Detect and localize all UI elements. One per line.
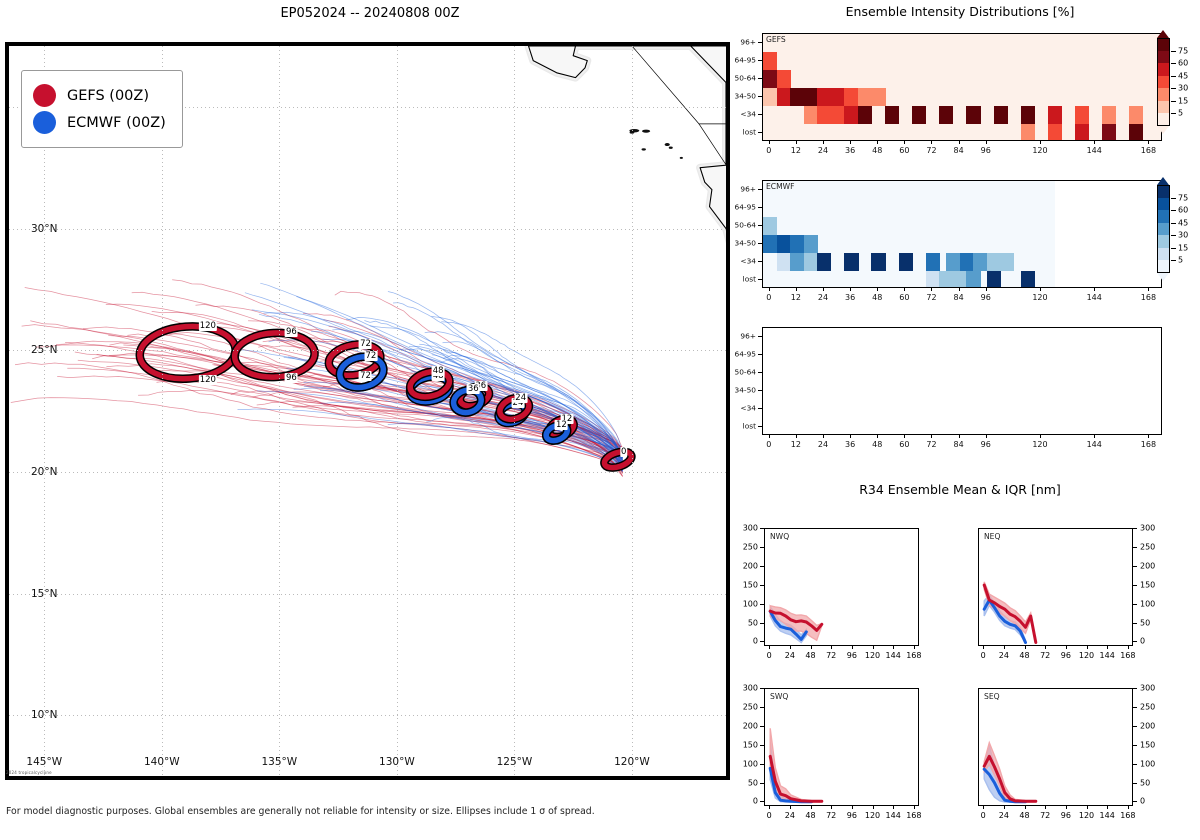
intensity-cell bbox=[1021, 106, 1035, 124]
intensity-category-label: 64-95 bbox=[722, 350, 756, 359]
ellipse-hour-label: 72 bbox=[359, 339, 372, 349]
axis-tick bbox=[904, 288, 905, 291]
axis-tick bbox=[811, 806, 812, 809]
r34-y-tick-label: 50 bbox=[1140, 778, 1150, 787]
colorbar-tick bbox=[1171, 51, 1176, 52]
intensity-cell bbox=[987, 271, 1001, 288]
map-gridline-lon bbox=[514, 46, 515, 776]
r34-y-tick-label: 0 bbox=[1140, 797, 1145, 806]
r34-x-tick-label: 48 bbox=[805, 811, 815, 820]
intensity-cell bbox=[899, 253, 913, 271]
axis-tick bbox=[1004, 806, 1005, 809]
map-tracks-svg bbox=[9, 46, 726, 776]
forecast-hour-label: 96 bbox=[981, 146, 991, 155]
map-gridline-lon bbox=[44, 46, 45, 776]
axis-tick bbox=[959, 435, 960, 438]
axis-tick bbox=[1133, 604, 1137, 605]
r34-y-tick-label: 100 bbox=[1140, 599, 1155, 608]
intensity-category-label: <34 bbox=[722, 110, 756, 119]
axis-tick bbox=[769, 806, 770, 809]
quadrant-label: NWQ bbox=[770, 532, 789, 541]
intensity-cell bbox=[763, 52, 777, 70]
axis-tick bbox=[1133, 726, 1137, 727]
intensity-cell bbox=[1102, 106, 1116, 124]
axis-tick bbox=[758, 96, 762, 97]
r34-y-tick-label: 100 bbox=[1140, 759, 1155, 768]
r34-y-tick-label: 250 bbox=[1140, 542, 1155, 551]
axis-tick bbox=[760, 604, 764, 605]
quadrant-label: SWQ bbox=[770, 692, 788, 701]
r34-plot-svg bbox=[979, 689, 1134, 807]
map-gridline-lon bbox=[162, 46, 163, 776]
axis-tick bbox=[852, 806, 853, 809]
quadrant-label: SEQ bbox=[984, 692, 1000, 701]
map-gridline-lon bbox=[397, 46, 398, 776]
forecast-hour-label: 24 bbox=[818, 146, 828, 155]
forecast-hour-label: 36 bbox=[845, 440, 855, 449]
map-gridline-lat bbox=[9, 472, 726, 473]
intensity-cell bbox=[763, 70, 777, 88]
intensity-cell bbox=[1021, 124, 1035, 141]
intensity-category-label: 96+ bbox=[722, 332, 756, 341]
r34-x-tick-label: 72 bbox=[1040, 651, 1050, 660]
r34-x-tick-label: 144 bbox=[886, 651, 901, 660]
ellipse-hour-label: 120 bbox=[199, 375, 217, 385]
intensity-colorbar bbox=[1157, 185, 1170, 273]
intensity-category-label: lost bbox=[722, 128, 756, 137]
forecast-hour-label: 24 bbox=[818, 293, 828, 302]
intensity-panel-ecmwf[interactable]: ECMWF bbox=[762, 180, 1162, 288]
intensity-cell bbox=[946, 253, 960, 271]
forecast-hour-label: 84 bbox=[954, 146, 964, 155]
r34-x-tick-label: 168 bbox=[906, 811, 921, 820]
island bbox=[680, 157, 683, 159]
axis-tick bbox=[1133, 623, 1137, 624]
axis-tick bbox=[986, 288, 987, 291]
r34-x-tick-label: 120 bbox=[1079, 651, 1094, 660]
colorbar-tick-label: 45 bbox=[1178, 218, 1188, 227]
forecast-hour-label: 168 bbox=[1141, 146, 1156, 155]
colorbar-tick bbox=[1171, 76, 1176, 77]
colorbar-tick-label: 75 bbox=[1178, 193, 1188, 202]
axis-tick bbox=[983, 806, 984, 809]
intensity-cell bbox=[817, 253, 831, 271]
axis-tick bbox=[758, 336, 762, 337]
axis-tick bbox=[758, 426, 762, 427]
intensity-cell bbox=[817, 88, 831, 106]
r34-y-tick-label: 200 bbox=[730, 721, 758, 730]
forecast-hour-label: 120 bbox=[1032, 293, 1047, 302]
axis-tick bbox=[877, 141, 878, 144]
map-lon-label: 120°W bbox=[614, 756, 650, 768]
r34-y-tick-label: 0 bbox=[730, 637, 758, 646]
axis-tick bbox=[904, 141, 905, 144]
forecast-hour-label: 168 bbox=[1141, 440, 1156, 449]
legend-label: GEFS (00Z) bbox=[67, 88, 149, 104]
intensity-cell bbox=[763, 88, 777, 106]
r34-y-tick-label: 0 bbox=[1140, 637, 1145, 646]
axis-tick bbox=[873, 646, 874, 649]
r34-x-tick-label: 144 bbox=[1100, 811, 1115, 820]
forecast-hour-label: 144 bbox=[1087, 293, 1102, 302]
colorbar-tick-label: 15 bbox=[1178, 243, 1188, 252]
map-gridline-lat bbox=[9, 715, 726, 716]
map-lon-label: 140°W bbox=[144, 756, 180, 768]
axis-tick bbox=[1133, 585, 1137, 586]
intensity-cell bbox=[1075, 124, 1089, 141]
axis-tick bbox=[1040, 288, 1041, 291]
axis-tick bbox=[850, 435, 851, 438]
forecast-hour-label: 84 bbox=[954, 440, 964, 449]
intensity-cell bbox=[844, 106, 858, 124]
colorbar-tick-label: 15 bbox=[1178, 96, 1188, 105]
axis-tick bbox=[1087, 806, 1088, 809]
intensity-cell bbox=[953, 271, 967, 288]
intensity-category-label: lost bbox=[722, 422, 756, 431]
colorbar-tick-label: 60 bbox=[1178, 59, 1188, 68]
r34-y-tick-label: 200 bbox=[730, 561, 758, 570]
r34-x-tick-label: 144 bbox=[886, 811, 901, 820]
intensity-cell bbox=[858, 88, 872, 106]
r34-y-tick-label: 50 bbox=[1140, 618, 1150, 627]
axis-tick bbox=[760, 688, 764, 689]
axis-tick bbox=[796, 141, 797, 144]
ellipse-hour-label: 120 bbox=[199, 321, 217, 331]
axis-tick bbox=[1148, 288, 1149, 291]
axis-tick bbox=[1025, 646, 1026, 649]
r34-x-tick-label: 96 bbox=[1061, 811, 1071, 820]
map-lon-label: 135°W bbox=[262, 756, 298, 768]
intensity-cell bbox=[844, 253, 858, 271]
axis-tick bbox=[758, 390, 762, 391]
axis-tick bbox=[758, 225, 762, 226]
axis-tick bbox=[1087, 646, 1088, 649]
gefs-spread-ellipse[interactable] bbox=[138, 323, 237, 382]
axis-tick bbox=[1004, 646, 1005, 649]
r34-y-tick-label: 250 bbox=[1140, 702, 1155, 711]
colorbar-tick bbox=[1171, 235, 1176, 236]
ellipse-hour-label: 0 bbox=[620, 447, 627, 457]
intensity-panel-empty[interactable] bbox=[762, 327, 1162, 435]
forecast-hour-label: 96 bbox=[981, 440, 991, 449]
r34-x-tick-label: 96 bbox=[847, 651, 857, 660]
intensity-cell bbox=[1129, 124, 1143, 141]
colorbar-tick bbox=[1171, 210, 1176, 211]
intensity-cell bbox=[831, 106, 845, 124]
axis-tick bbox=[1133, 707, 1137, 708]
axis-tick bbox=[823, 288, 824, 291]
axis-tick bbox=[873, 806, 874, 809]
r34-x-tick-label: 168 bbox=[1120, 651, 1135, 660]
r34-panel-nwq[interactable]: NWQ bbox=[764, 528, 919, 646]
axis-tick bbox=[1133, 745, 1137, 746]
forecast-hour-label: 96 bbox=[981, 293, 991, 302]
r34-x-tick-label: 24 bbox=[999, 811, 1009, 820]
axis-tick bbox=[983, 646, 984, 649]
r34-plot-svg bbox=[765, 529, 920, 647]
r34-x-tick-label: 24 bbox=[785, 811, 795, 820]
axis-tick bbox=[1094, 435, 1095, 438]
forecast-hour-label: 24 bbox=[818, 440, 828, 449]
axis-tick bbox=[758, 78, 762, 79]
forecast-hour-label: 168 bbox=[1141, 293, 1156, 302]
intensity-colorbar bbox=[1157, 38, 1170, 126]
colorbar-tick-label: 75 bbox=[1178, 46, 1188, 55]
r34-x-tick-label: 48 bbox=[1019, 651, 1029, 660]
intensity-cell bbox=[939, 106, 953, 124]
axis-tick bbox=[758, 207, 762, 208]
r34-x-tick-label: 48 bbox=[805, 651, 815, 660]
r34-y-tick-label: 100 bbox=[730, 599, 758, 608]
axis-tick bbox=[1107, 806, 1108, 809]
intensity-cell bbox=[912, 106, 926, 124]
axis-tick bbox=[758, 279, 762, 280]
model-legend: GEFS (00Z)ECMWF (00Z) bbox=[21, 70, 183, 148]
map-lat-label: 10°N bbox=[31, 709, 57, 721]
axis-tick bbox=[758, 114, 762, 115]
axis-tick bbox=[914, 646, 915, 649]
axis-tick bbox=[769, 288, 770, 291]
colorbar-tick bbox=[1171, 198, 1176, 199]
ellipse-hour-label: 36 bbox=[467, 384, 480, 394]
intensity-cell bbox=[790, 235, 804, 253]
ellipse-hour-label: 96 bbox=[285, 327, 298, 337]
colorbar-tick-label: 45 bbox=[1178, 71, 1188, 80]
axis-tick bbox=[769, 646, 770, 649]
intensity-cell bbox=[790, 253, 804, 271]
axis-tick bbox=[986, 141, 987, 144]
island bbox=[642, 148, 646, 150]
forecast-hour-label: 36 bbox=[845, 146, 855, 155]
axis-tick bbox=[758, 372, 762, 373]
map-lat-label: 30°N bbox=[31, 223, 57, 235]
forecast-hour-label: 60 bbox=[899, 440, 909, 449]
axis-tick bbox=[760, 547, 764, 548]
axis-tick bbox=[758, 243, 762, 244]
map-lon-label: 145°W bbox=[26, 756, 62, 768]
intensity-cell bbox=[926, 253, 940, 271]
axis-tick bbox=[1045, 646, 1046, 649]
axis-tick bbox=[758, 354, 762, 355]
intensity-cell bbox=[885, 106, 899, 124]
colorbar-tick-label: 30 bbox=[1178, 84, 1188, 93]
intensity-cell bbox=[1000, 253, 1014, 271]
ellipse-hour-label: 72 bbox=[364, 351, 377, 361]
intensity-cell bbox=[1129, 106, 1143, 124]
axis-tick bbox=[1133, 547, 1137, 548]
axis-tick bbox=[760, 745, 764, 746]
map-title: EP052024 -- 20240808 00Z bbox=[0, 6, 740, 21]
forecast-hour-label: 144 bbox=[1087, 146, 1102, 155]
forecast-hour-label: 0 bbox=[766, 146, 771, 155]
forecast-hour-label: 60 bbox=[899, 293, 909, 302]
forecast-hour-label: 48 bbox=[872, 293, 882, 302]
intensity-cell bbox=[777, 70, 791, 88]
axis-tick bbox=[1148, 141, 1149, 144]
intensity-category-label: lost bbox=[722, 275, 756, 284]
colorbar-border bbox=[1157, 38, 1170, 126]
intensity-category-label: 96+ bbox=[722, 185, 756, 194]
r34-panel-seq[interactable]: SEQ bbox=[978, 688, 1133, 806]
forecast-hour-label: 0 bbox=[766, 440, 771, 449]
axis-tick bbox=[760, 641, 764, 642]
axis-tick bbox=[758, 42, 762, 43]
map-gridline-lon bbox=[279, 46, 280, 776]
intensity-cell bbox=[844, 88, 858, 106]
intensity-cell bbox=[973, 253, 987, 271]
r34-plot-svg bbox=[765, 689, 920, 807]
r34-x-tick-label: 144 bbox=[1100, 651, 1115, 660]
forecast-hour-label: 0 bbox=[766, 293, 771, 302]
r34-y-tick-label: 300 bbox=[730, 524, 758, 533]
map-gridline-lat bbox=[9, 229, 726, 230]
intensity-category-label: 34-50 bbox=[722, 239, 756, 248]
colorbar-tick bbox=[1171, 223, 1176, 224]
forecast-hour-label: 12 bbox=[791, 293, 801, 302]
forecast-hour-label: 48 bbox=[872, 146, 882, 155]
forecast-hour-label: 72 bbox=[926, 146, 936, 155]
axis-tick bbox=[1133, 688, 1137, 689]
colorbar-tick-label: 5 bbox=[1178, 109, 1183, 118]
colorbar-tick-label: 30 bbox=[1178, 231, 1188, 240]
colorbar-tick bbox=[1171, 113, 1176, 114]
intensity-category-label: 50-64 bbox=[722, 221, 756, 230]
intensity-cell bbox=[994, 106, 1008, 124]
axis-tick bbox=[931, 288, 932, 291]
r34-y-tick-label: 250 bbox=[730, 702, 758, 711]
axis-tick bbox=[904, 435, 905, 438]
ellipse-hour-label: 96 bbox=[285, 373, 298, 383]
axis-tick bbox=[811, 646, 812, 649]
intensity-cell bbox=[1048, 124, 1062, 141]
legend-row-gefs: GEFS (00Z) bbox=[33, 84, 166, 107]
axis-tick bbox=[914, 806, 915, 809]
intensity-cell bbox=[987, 253, 1001, 271]
intensity-category-label: 64-95 bbox=[722, 203, 756, 212]
coast-halo bbox=[529, 46, 727, 401]
intensity-cell bbox=[871, 253, 885, 271]
island bbox=[665, 143, 670, 146]
axis-tick bbox=[850, 141, 851, 144]
r34-x-tick-label: 96 bbox=[847, 811, 857, 820]
r34-x-tick-label: 120 bbox=[865, 651, 880, 660]
legend-label: ECMWF (00Z) bbox=[67, 115, 166, 131]
island bbox=[642, 130, 650, 133]
map-lat-label: 15°N bbox=[31, 588, 57, 600]
legend-row-ecmwf: ECMWF (00Z) bbox=[33, 111, 166, 134]
r34-y-tick-label: 300 bbox=[1140, 524, 1155, 533]
r34-panel-neq[interactable]: NEQ bbox=[978, 528, 1133, 646]
axis-tick bbox=[877, 435, 878, 438]
colorbar-tick-label: 5 bbox=[1178, 256, 1183, 265]
axis-tick bbox=[1066, 806, 1067, 809]
forecast-hour-label: 12 bbox=[791, 440, 801, 449]
intensity-category-label: 50-64 bbox=[722, 368, 756, 377]
map-gridline-lon bbox=[632, 46, 633, 776]
r34-x-tick-label: 24 bbox=[785, 651, 795, 660]
axis-tick bbox=[1133, 801, 1137, 802]
coast-halo bbox=[529, 46, 727, 401]
intensity-cell bbox=[777, 235, 791, 253]
r34-x-tick-label: 120 bbox=[865, 811, 880, 820]
intensity-cell bbox=[763, 235, 777, 253]
axis-tick bbox=[823, 141, 824, 144]
forecast-hour-label: 144 bbox=[1087, 440, 1102, 449]
axis-tick bbox=[1045, 806, 1046, 809]
ellipse-hour-label: 48 bbox=[432, 366, 445, 376]
axis-tick bbox=[852, 646, 853, 649]
panel-model-tag: ECMWF bbox=[766, 182, 795, 191]
r34-x-tick-label: 120 bbox=[1079, 811, 1094, 820]
r34-x-tick-label: 0 bbox=[767, 811, 772, 820]
panel-model-tag: GEFS bbox=[766, 35, 786, 44]
axis-tick bbox=[790, 806, 791, 809]
axis-tick bbox=[758, 189, 762, 190]
r34-y-tick-label: 300 bbox=[1140, 684, 1155, 693]
r34-panel-swq[interactable]: SWQ bbox=[764, 688, 919, 806]
axis-tick bbox=[1025, 806, 1026, 809]
axis-tick bbox=[1133, 764, 1137, 765]
axis-tick bbox=[1133, 528, 1137, 529]
r34-x-tick-label: 96 bbox=[1061, 651, 1071, 660]
r34-x-tick-label: 72 bbox=[826, 811, 836, 820]
intensity-cell bbox=[1102, 124, 1116, 141]
forecast-hour-label: 60 bbox=[899, 146, 909, 155]
intensity-category-label: 96+ bbox=[722, 38, 756, 47]
colorbar-max-arrow-icon bbox=[1157, 177, 1169, 185]
axis-tick bbox=[758, 408, 762, 409]
intensity-panel-gefs[interactable]: GEFS bbox=[762, 33, 1162, 141]
track-map-panel[interactable]: 145°W140°W135°W130°W125°W120°W35°N30°N25… bbox=[5, 42, 730, 780]
r34-y-tick-label: 150 bbox=[730, 580, 758, 589]
axis-tick bbox=[893, 806, 894, 809]
axis-tick bbox=[1128, 646, 1129, 649]
forecast-hour-label: 72 bbox=[926, 293, 936, 302]
watermark-text: 2024 tropicalcyclone bbox=[6, 770, 52, 775]
axis-tick bbox=[760, 528, 764, 529]
intensity-cell bbox=[1021, 271, 1035, 288]
forecast-hour-label: 120 bbox=[1032, 440, 1047, 449]
intensity-cell bbox=[926, 271, 940, 288]
map-lat-label: 20°N bbox=[31, 466, 57, 478]
axis-tick bbox=[831, 806, 832, 809]
intensity-cell bbox=[966, 271, 980, 288]
quadrant-label: NEQ bbox=[984, 532, 1000, 541]
axis-tick bbox=[760, 764, 764, 765]
axis-tick bbox=[796, 435, 797, 438]
r34-y-tick-label: 50 bbox=[730, 778, 758, 787]
r34-mean-line bbox=[984, 585, 1036, 643]
map-lon-label: 125°W bbox=[497, 756, 533, 768]
map-gridline-lat bbox=[9, 594, 726, 595]
colorbar-max-arrow-icon bbox=[1157, 30, 1169, 38]
axis-tick bbox=[1094, 288, 1095, 291]
r34-section-title: R34 Ensemble Mean & IQR [nm] bbox=[740, 482, 1180, 497]
axis-tick bbox=[760, 585, 764, 586]
axis-tick bbox=[931, 141, 932, 144]
axis-tick bbox=[796, 288, 797, 291]
ellipse-hour-label: 24 bbox=[514, 393, 527, 403]
axis-tick bbox=[986, 435, 987, 438]
axis-tick bbox=[1148, 435, 1149, 438]
axis-tick bbox=[758, 261, 762, 262]
r34-x-tick-label: 0 bbox=[981, 811, 986, 820]
axis-tick bbox=[760, 783, 764, 784]
intensity-cell bbox=[960, 253, 974, 271]
r34-y-tick-label: 150 bbox=[1140, 740, 1155, 749]
colorbar-tick bbox=[1171, 248, 1176, 249]
map-canvas[interactable] bbox=[9, 46, 726, 776]
